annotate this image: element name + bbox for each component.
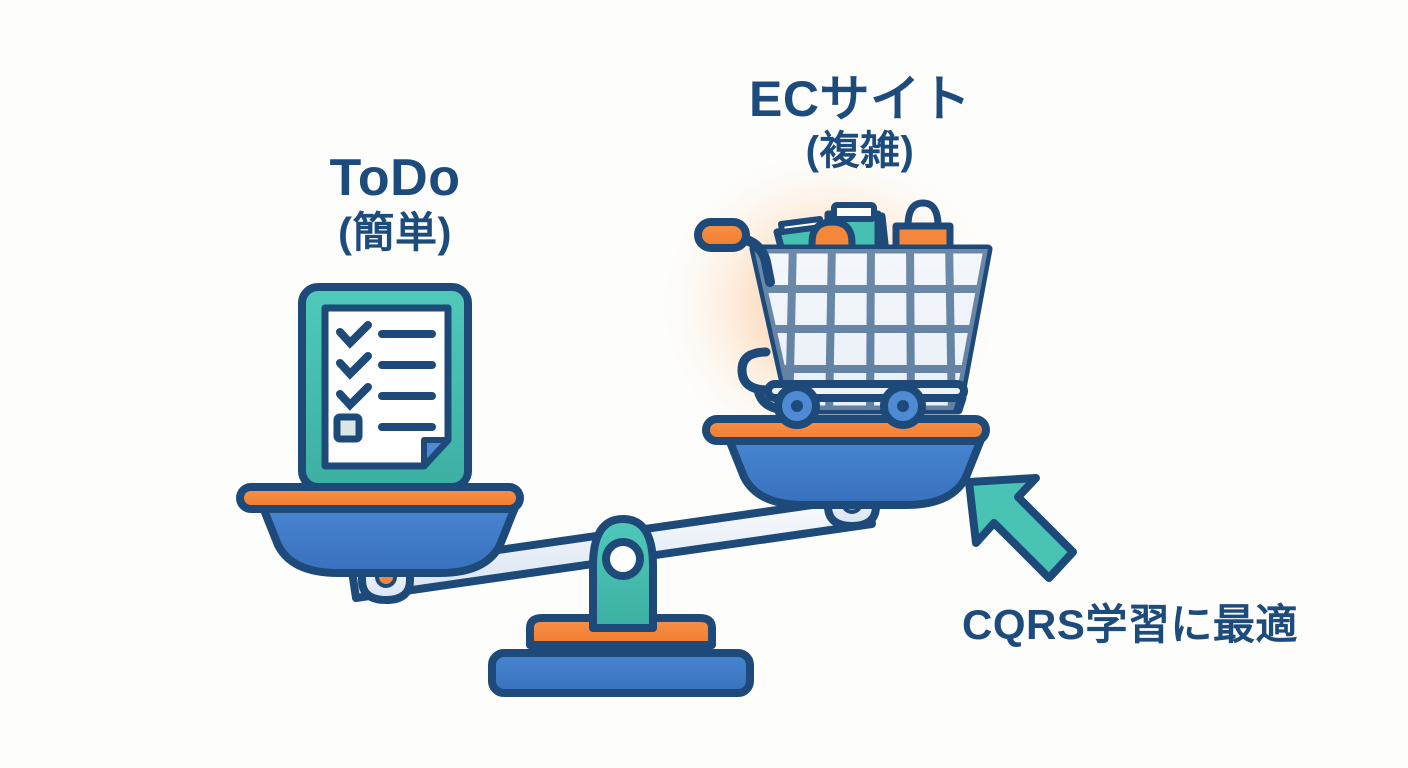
label-todo-subtitle: (簡単) bbox=[230, 210, 560, 255]
fulcrum-pivot-hole bbox=[606, 542, 640, 576]
checkbox-icon bbox=[337, 417, 359, 439]
left-pan-bowl bbox=[262, 505, 516, 573]
fulcrum bbox=[593, 519, 653, 628]
label-ec-site: ECサイト (複雑) bbox=[690, 72, 1030, 173]
cart-handle-grip bbox=[698, 222, 746, 248]
illustration-canvas: ToDo (簡単) ECサイト (複雑) CQRS学習に最適 bbox=[0, 0, 1408, 768]
label-todo: ToDo (簡単) bbox=[230, 150, 560, 256]
grocery-bag-label bbox=[834, 205, 874, 219]
label-ec-subtitle: (複雑) bbox=[690, 130, 1030, 173]
right-pan-assembly bbox=[706, 419, 986, 526]
checklist-clipboard bbox=[302, 287, 468, 487]
cart-wheel-hub-left bbox=[791, 400, 803, 412]
label-cqrs-annotation: CQRS学習に最適 bbox=[962, 602, 1362, 647]
label-todo-title: ToDo bbox=[330, 149, 461, 207]
right-pan-rim bbox=[706, 419, 986, 441]
base-plate-blue bbox=[492, 653, 750, 693]
cart-wheel-hub-right bbox=[897, 400, 909, 412]
arrow-shape bbox=[969, 478, 1073, 578]
label-ec-title: ECサイト bbox=[749, 71, 971, 127]
right-pan-bowl bbox=[728, 437, 982, 505]
arrow-up-left-icon bbox=[969, 478, 1073, 578]
